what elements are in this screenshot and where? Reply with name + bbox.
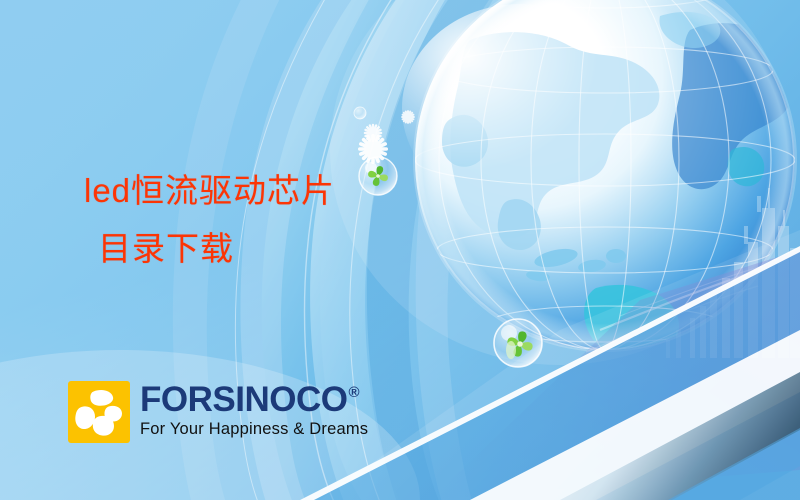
slide-canvas: led恒流驱动芯片 目录下载 FORSINOCO ®	[0, 0, 800, 500]
registered-trademark-icon: ®	[348, 385, 359, 400]
logo-company-name: FORSINOCO	[140, 383, 347, 416]
headline-line-1: led恒流驱动芯片	[84, 162, 335, 220]
headline: led恒流驱动芯片 目录下载	[84, 162, 335, 278]
logo-wordmark: FORSINOCO ® For Your Happiness & Dreams	[140, 381, 368, 439]
headline-line-2: 目录下载	[84, 220, 335, 278]
company-logo: FORSINOCO ® For Your Happiness & Dreams	[68, 381, 368, 443]
logo-tagline: For Your Happiness & Dreams	[140, 420, 368, 439]
logo-petals-icon	[75, 388, 122, 435]
logo-mark-icon	[68, 381, 130, 443]
